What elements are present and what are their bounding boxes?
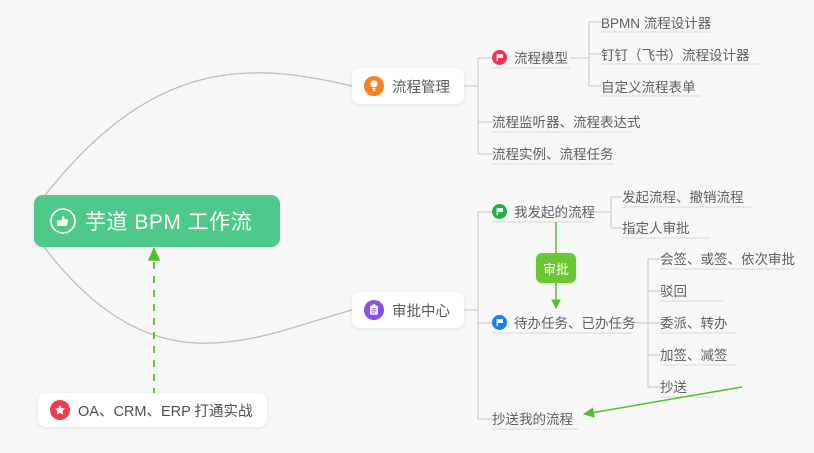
leaf-label-process-instance: 流程实例、流程任务 [492, 143, 614, 163]
leaf-process-listener[interactable]: 流程监听器、流程表达式 [492, 110, 641, 132]
leaf-my-initiated[interactable]: 我发起的流程 [492, 200, 595, 222]
branch-node-process-management[interactable]: 流程管理 [352, 68, 464, 104]
leaf-label-bpmn-designer: BPMN 流程设计器 [601, 12, 711, 32]
leaf-label-cc-to-me: 抄送我的流程 [492, 408, 573, 428]
leaf-delegate-transfer[interactable]: 委派、转办 [660, 311, 728, 333]
flag-icon [492, 204, 507, 219]
leaf-todo-done-tasks[interactable]: 待办任务、已办任务 [492, 311, 636, 333]
leaf-process-instance[interactable]: 流程实例、流程任务 [492, 142, 614, 164]
root-node[interactable]: 芋道 BPM 工作流 [34, 195, 280, 247]
branch-label-process-management: 流程管理 [392, 76, 450, 97]
leaf-label-todo-done-tasks: 待办任务、已办任务 [514, 312, 636, 332]
leaf-process-model[interactable]: 流程模型 [492, 46, 568, 68]
clipboard-icon [364, 300, 384, 320]
leaf-label-process-listener: 流程监听器、流程表达式 [492, 111, 641, 131]
floating-note-label: OA、CRM、ERP 打通实战 [78, 400, 253, 421]
leaf-label-assignee-approval: 指定人审批 [622, 217, 690, 237]
leaf-label-start-cancel-process: 发起流程、撤销流程 [622, 186, 744, 206]
leaf-label-dingtalk-designer: 钉钉（飞书）流程设计器 [601, 44, 750, 64]
approval-center-links [462, 212, 492, 419]
leaf-start-cancel-process[interactable]: 发起流程、撤销流程 [622, 185, 744, 207]
flag-icon [492, 315, 507, 330]
branch-label-approval-center: 审批中心 [392, 300, 450, 321]
leaf-bpmn-designer[interactable]: BPMN 流程设计器 [601, 11, 711, 33]
floating-note-card[interactable]: OA、CRM、ERP 打通实战 [38, 393, 267, 427]
leaf-cc[interactable]: 抄送 [660, 375, 687, 397]
mindmap-canvas: 芋道 BPM 工作流 流程管理 审批中心 [0, 0, 814, 453]
leaf-countersign[interactable]: 会签、或签、依次审批 [660, 247, 795, 269]
leaf-label-cc: 抄送 [660, 376, 687, 396]
leaf-label-add-remove-sign: 加签、减签 [660, 344, 728, 364]
process-model-links [570, 22, 601, 86]
leaf-assignee-approval[interactable]: 指定人审批 [622, 216, 690, 238]
lightbulb-icon [364, 76, 384, 96]
leaf-add-remove-sign[interactable]: 加签、减签 [660, 343, 728, 365]
annotation-pill-approval: 审批 [536, 253, 576, 283]
root-label: 芋道 BPM 工作流 [85, 206, 252, 236]
leaf-dingtalk-designer[interactable]: 钉钉（飞书）流程设计器 [601, 43, 750, 65]
my-initiated-links [592, 197, 622, 228]
leaf-cc-to-me[interactable]: 抄送我的流程 [492, 407, 573, 429]
leaf-reject[interactable]: 驳回 [660, 279, 687, 301]
star-icon [50, 400, 70, 420]
leaf-label-process-model: 流程模型 [514, 47, 568, 67]
leaf-label-custom-form: 自定义流程表单 [601, 76, 696, 96]
leaf-label-my-initiated: 我发起的流程 [514, 201, 595, 221]
annotation-pill-label: 审批 [543, 259, 569, 278]
leaf-label-countersign: 会签、或签、依次审批 [660, 248, 795, 268]
branch-node-approval-center[interactable]: 审批中心 [352, 292, 464, 328]
leaf-label-delegate-transfer: 委派、转办 [660, 312, 728, 332]
process-management-links [462, 58, 492, 154]
flag-icon [492, 50, 507, 65]
leaf-custom-form[interactable]: 自定义流程表单 [601, 75, 696, 97]
thumbs-up-icon [50, 208, 76, 234]
todo-done-links [632, 259, 660, 387]
leaf-label-reject: 驳回 [660, 280, 687, 300]
